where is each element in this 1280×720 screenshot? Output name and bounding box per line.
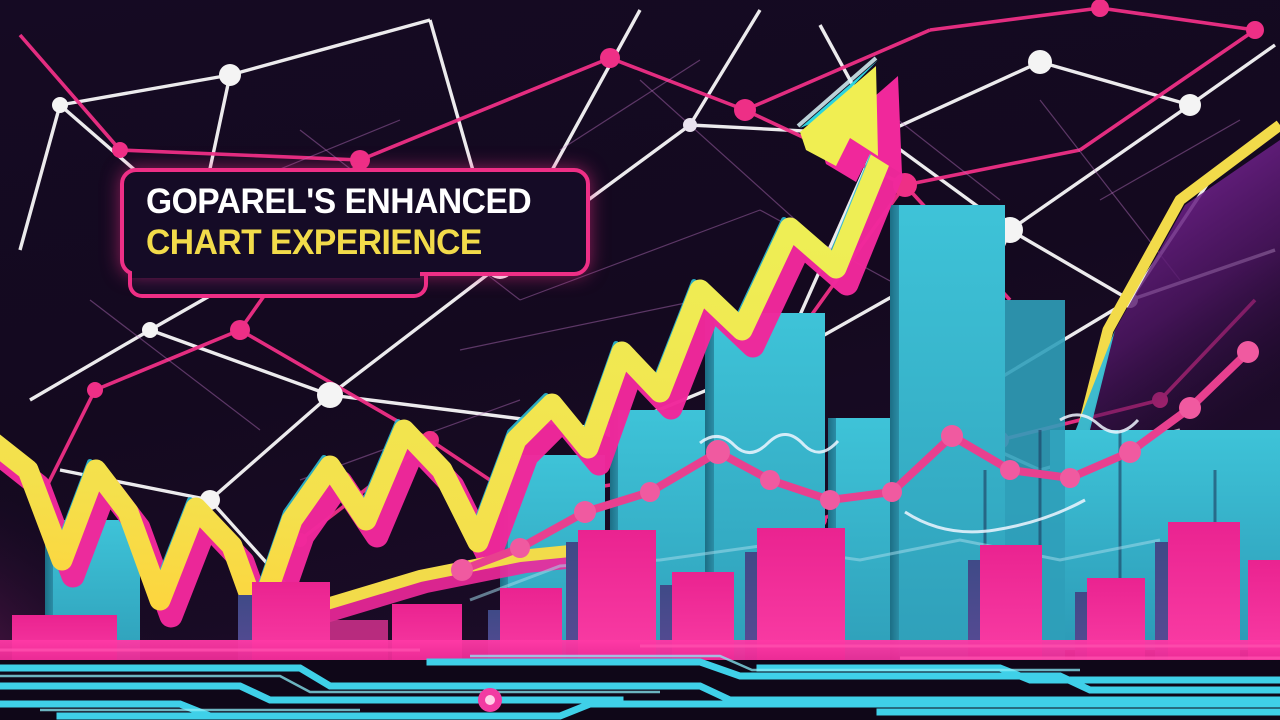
- title-speech-bubble: GOPAREL'S ENHANCED CHART EXPERIENCE: [120, 168, 590, 298]
- circuit-base-layer: [0, 0, 1280, 720]
- title-line-1: GOPAREL'S ENHANCED: [146, 183, 572, 220]
- title-text-group: GOPAREL'S ENHANCED CHART EXPERIENCE: [120, 168, 590, 276]
- title-line-2: CHART EXPERIENCE: [146, 224, 572, 261]
- poster-canvas: GOPAREL'S ENHANCED CHART EXPERIENCE: [0, 0, 1280, 720]
- circuit-node-dot-core: [485, 695, 495, 705]
